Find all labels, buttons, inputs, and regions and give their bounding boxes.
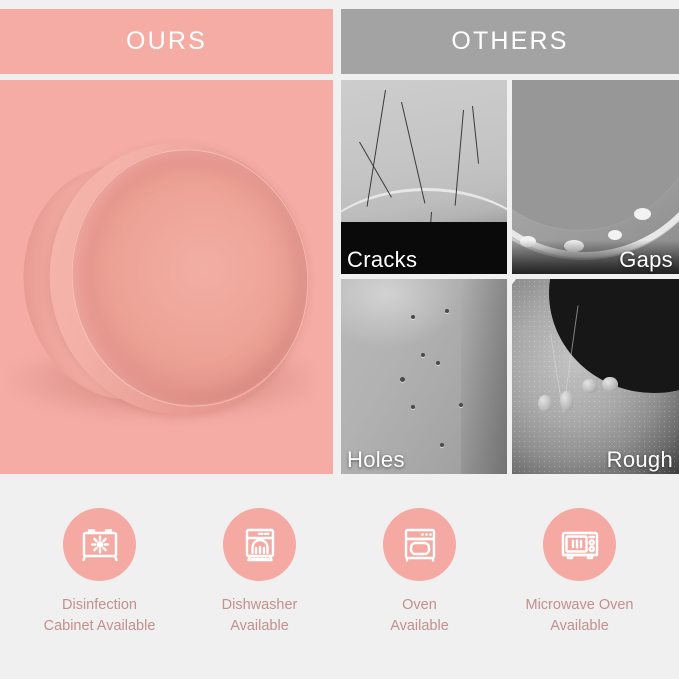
rough-bump xyxy=(560,391,573,411)
oven-icon xyxy=(398,523,442,567)
defect-holes: Holes xyxy=(341,279,507,474)
feature-label-line1: Disinfection xyxy=(62,597,137,613)
defect-gaps: Gaps xyxy=(512,80,679,274)
dishwasher-icon xyxy=(238,523,282,567)
header-ours: OURS xyxy=(0,9,333,74)
gap-blob xyxy=(634,208,651,220)
feature-disinfection-cabinet: Disinfection Cabinet Available xyxy=(20,474,180,637)
comparison-headers: OURS OTHERS xyxy=(0,9,679,74)
silicone-cake-pan xyxy=(20,135,315,425)
hole-dot xyxy=(440,443,444,447)
hole-dot xyxy=(436,361,440,365)
feature-label-line2: Available xyxy=(230,618,289,634)
microwave-oven-icon xyxy=(558,523,602,567)
hole-dot xyxy=(400,377,405,382)
feature-microwave-oven: Microwave Oven Available xyxy=(500,474,660,637)
feature-label-line1: Microwave Oven xyxy=(526,597,634,613)
disinfection-cabinet-icon xyxy=(78,523,122,567)
defect-cracks: Cracks xyxy=(341,80,507,274)
hole-dot xyxy=(421,353,425,357)
feature-label-line1: Dishwasher xyxy=(222,597,298,613)
hole-dot xyxy=(445,309,449,313)
feature-label-line2: Available xyxy=(550,618,609,634)
ours-product-photo xyxy=(0,80,333,474)
header-others: OTHERS xyxy=(341,9,679,74)
feature-dishwasher: Dishwasher Available xyxy=(180,474,340,637)
defect-gaps-label: Gaps xyxy=(619,248,673,272)
rough-bump xyxy=(538,395,552,412)
header-ours-label: OURS xyxy=(126,27,207,56)
oven-icon-badge xyxy=(383,508,456,581)
hole-dot xyxy=(459,403,463,407)
microwave-oven-icon-badge xyxy=(543,508,616,581)
feature-disinfection-cabinet-label: Disinfection Cabinet Available xyxy=(44,595,156,637)
product-comparison-infographic: OURS OTHERS xyxy=(0,0,679,679)
disinfection-cabinet-icon-badge xyxy=(63,508,136,581)
feature-oven: Oven Available xyxy=(340,474,500,637)
hole-dot xyxy=(411,405,415,409)
feature-label-line2: Available xyxy=(390,618,449,634)
others-defect-grid: Cracks Gaps xyxy=(341,80,679,474)
feature-oven-label: Oven Available xyxy=(390,595,449,637)
feature-strip: Disinfection Cabinet Available xyxy=(0,474,679,679)
gap-blob xyxy=(608,230,622,240)
rough-bump xyxy=(582,379,597,393)
header-others-label: OTHERS xyxy=(451,27,568,56)
defect-rough: Rough xyxy=(512,279,679,474)
holes-edge-shadow xyxy=(461,279,507,474)
comparison-section: OURS OTHERS xyxy=(0,0,679,474)
defect-cracks-label: Cracks xyxy=(347,248,417,272)
feature-label-line2: Cabinet Available xyxy=(44,618,156,634)
feature-microwave-oven-label: Microwave Oven Available xyxy=(526,595,634,637)
rough-bump xyxy=(602,377,618,392)
hole-dot xyxy=(411,315,415,319)
dishwasher-icon-badge xyxy=(223,508,296,581)
defect-holes-label: Holes xyxy=(347,448,405,472)
feature-dishwasher-label: Dishwasher Available xyxy=(222,595,298,637)
feature-label-line1: Oven xyxy=(402,597,437,613)
defect-rough-label: Rough xyxy=(607,448,673,472)
